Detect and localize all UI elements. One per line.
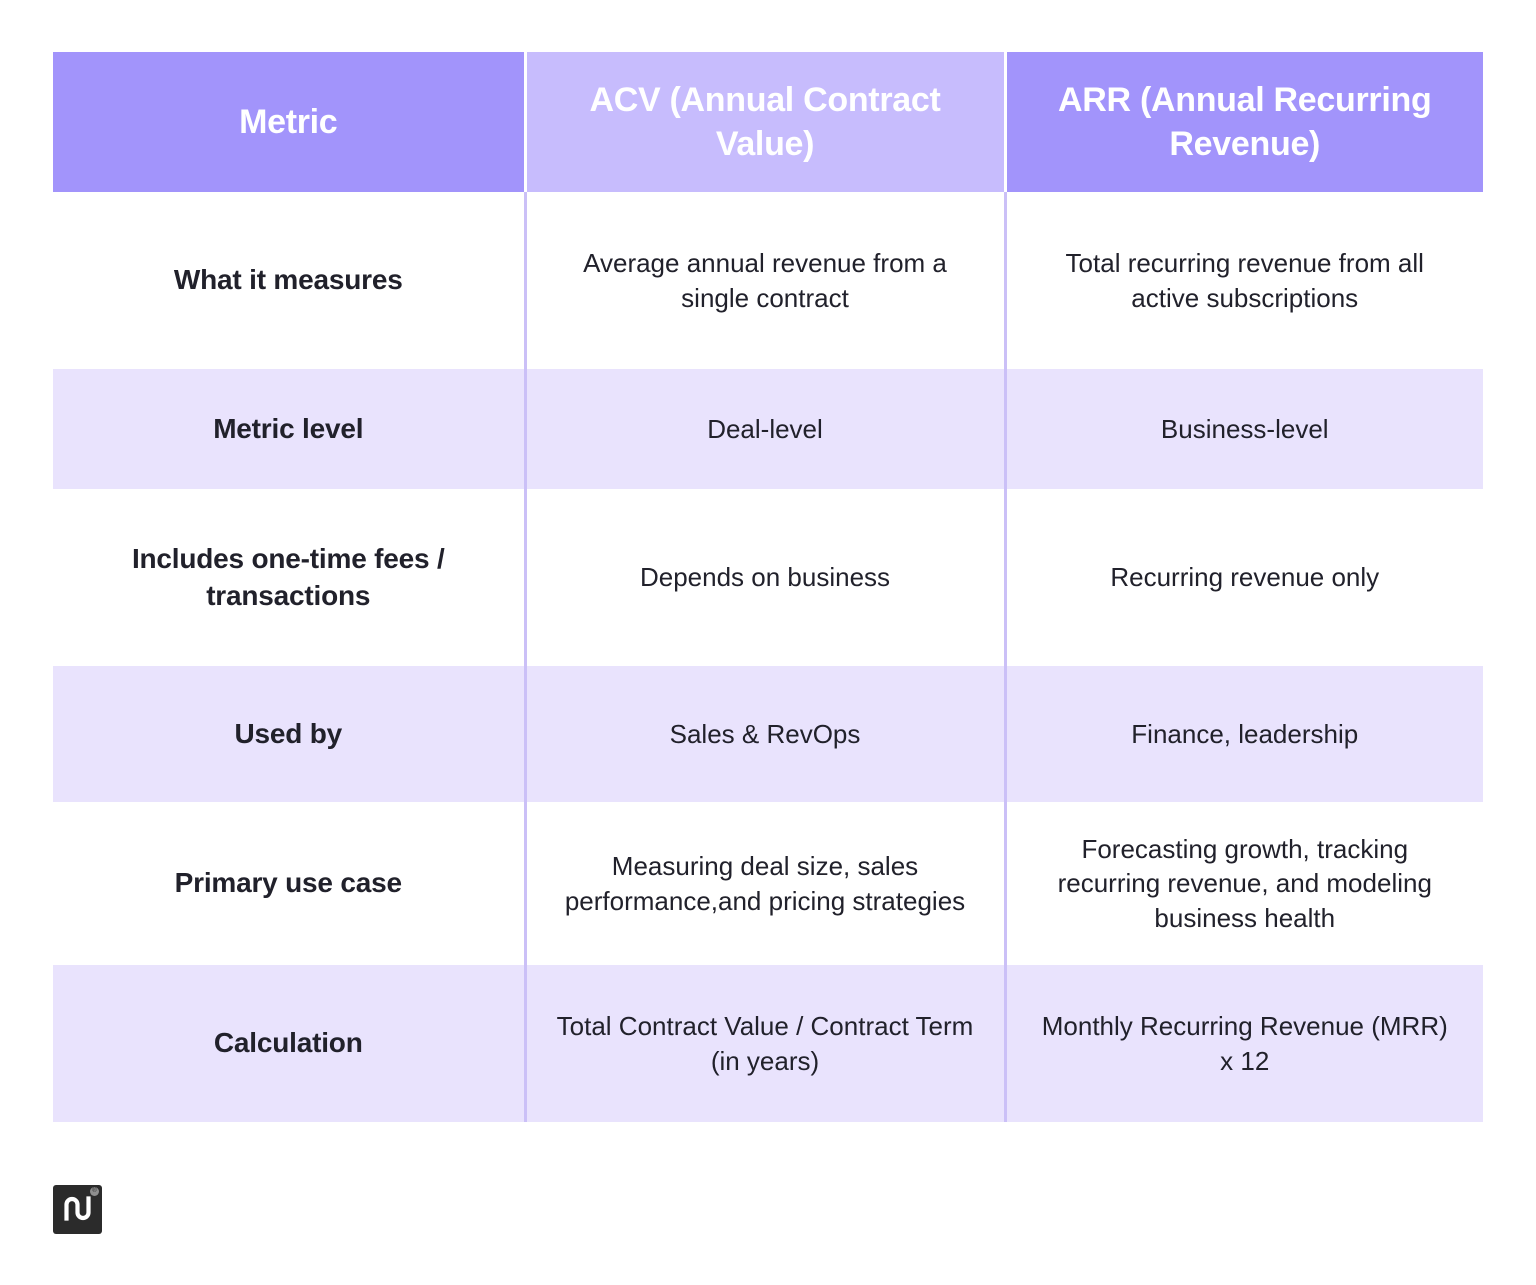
column-header-arr: ARR (Annual Recurring Revenue) xyxy=(1005,52,1483,192)
cell-arr-used-by: Finance, leadership xyxy=(1005,666,1483,802)
row-label-calculation: Calculation xyxy=(53,965,525,1122)
cell-acv-includes-one-time-fees: Depends on business xyxy=(525,489,1005,666)
cell-arr-what-it-measures: Total recurring revenue from all active … xyxy=(1005,192,1483,369)
table-row: Includes one-time fees / transactions De… xyxy=(53,489,1483,666)
row-label-what-it-measures: What it measures xyxy=(53,192,525,369)
column-header-acv: ACV (Annual Contract Value) xyxy=(525,52,1005,192)
cell-acv-used-by: Sales & RevOps xyxy=(525,666,1005,802)
cell-arr-primary-use-case: Forecasting growth, tracking recurring r… xyxy=(1005,802,1483,965)
cell-acv-what-it-measures: Average annual revenue from a single con… xyxy=(525,192,1005,369)
comparison-table-page: Metric ACV (Annual Contract Value) ARR (… xyxy=(0,0,1536,1285)
row-label-primary-use-case: Primary use case xyxy=(53,802,525,965)
pandadoc-logo-icon: ® xyxy=(53,1185,102,1234)
table-body: What it measures Average annual revenue … xyxy=(53,192,1483,1122)
cell-arr-includes-one-time-fees: Recurring revenue only xyxy=(1005,489,1483,666)
table-header: Metric ACV (Annual Contract Value) ARR (… xyxy=(53,52,1483,192)
registered-trademark-icon: ® xyxy=(90,1187,99,1196)
table-row: Primary use case Measuring deal size, sa… xyxy=(53,802,1483,965)
column-header-metric: Metric xyxy=(53,52,525,192)
comparison-table-container: Metric ACV (Annual Contract Value) ARR (… xyxy=(53,52,1483,1118)
header-row: Metric ACV (Annual Contract Value) ARR (… xyxy=(53,52,1483,192)
acv-arr-comparison-table: Metric ACV (Annual Contract Value) ARR (… xyxy=(53,52,1483,1122)
table-row: Metric level Deal-level Business-level xyxy=(53,369,1483,489)
row-label-includes-one-time-fees: Includes one-time fees / transactions xyxy=(53,489,525,666)
table-row: What it measures Average annual revenue … xyxy=(53,192,1483,369)
cell-arr-calculation: Monthly Recurring Revenue (MRR) x 12 xyxy=(1005,965,1483,1122)
row-label-metric-level: Metric level xyxy=(53,369,525,489)
table-row: Used by Sales & RevOps Finance, leadersh… xyxy=(53,666,1483,802)
cell-acv-primary-use-case: Measuring deal size, sales performance,a… xyxy=(525,802,1005,965)
table-row: Calculation Total Contract Value / Contr… xyxy=(53,965,1483,1122)
cell-arr-metric-level: Business-level xyxy=(1005,369,1483,489)
cell-acv-calculation: Total Contract Value / Contract Term (in… xyxy=(525,965,1005,1122)
cell-acv-metric-level: Deal-level xyxy=(525,369,1005,489)
row-label-used-by: Used by xyxy=(53,666,525,802)
